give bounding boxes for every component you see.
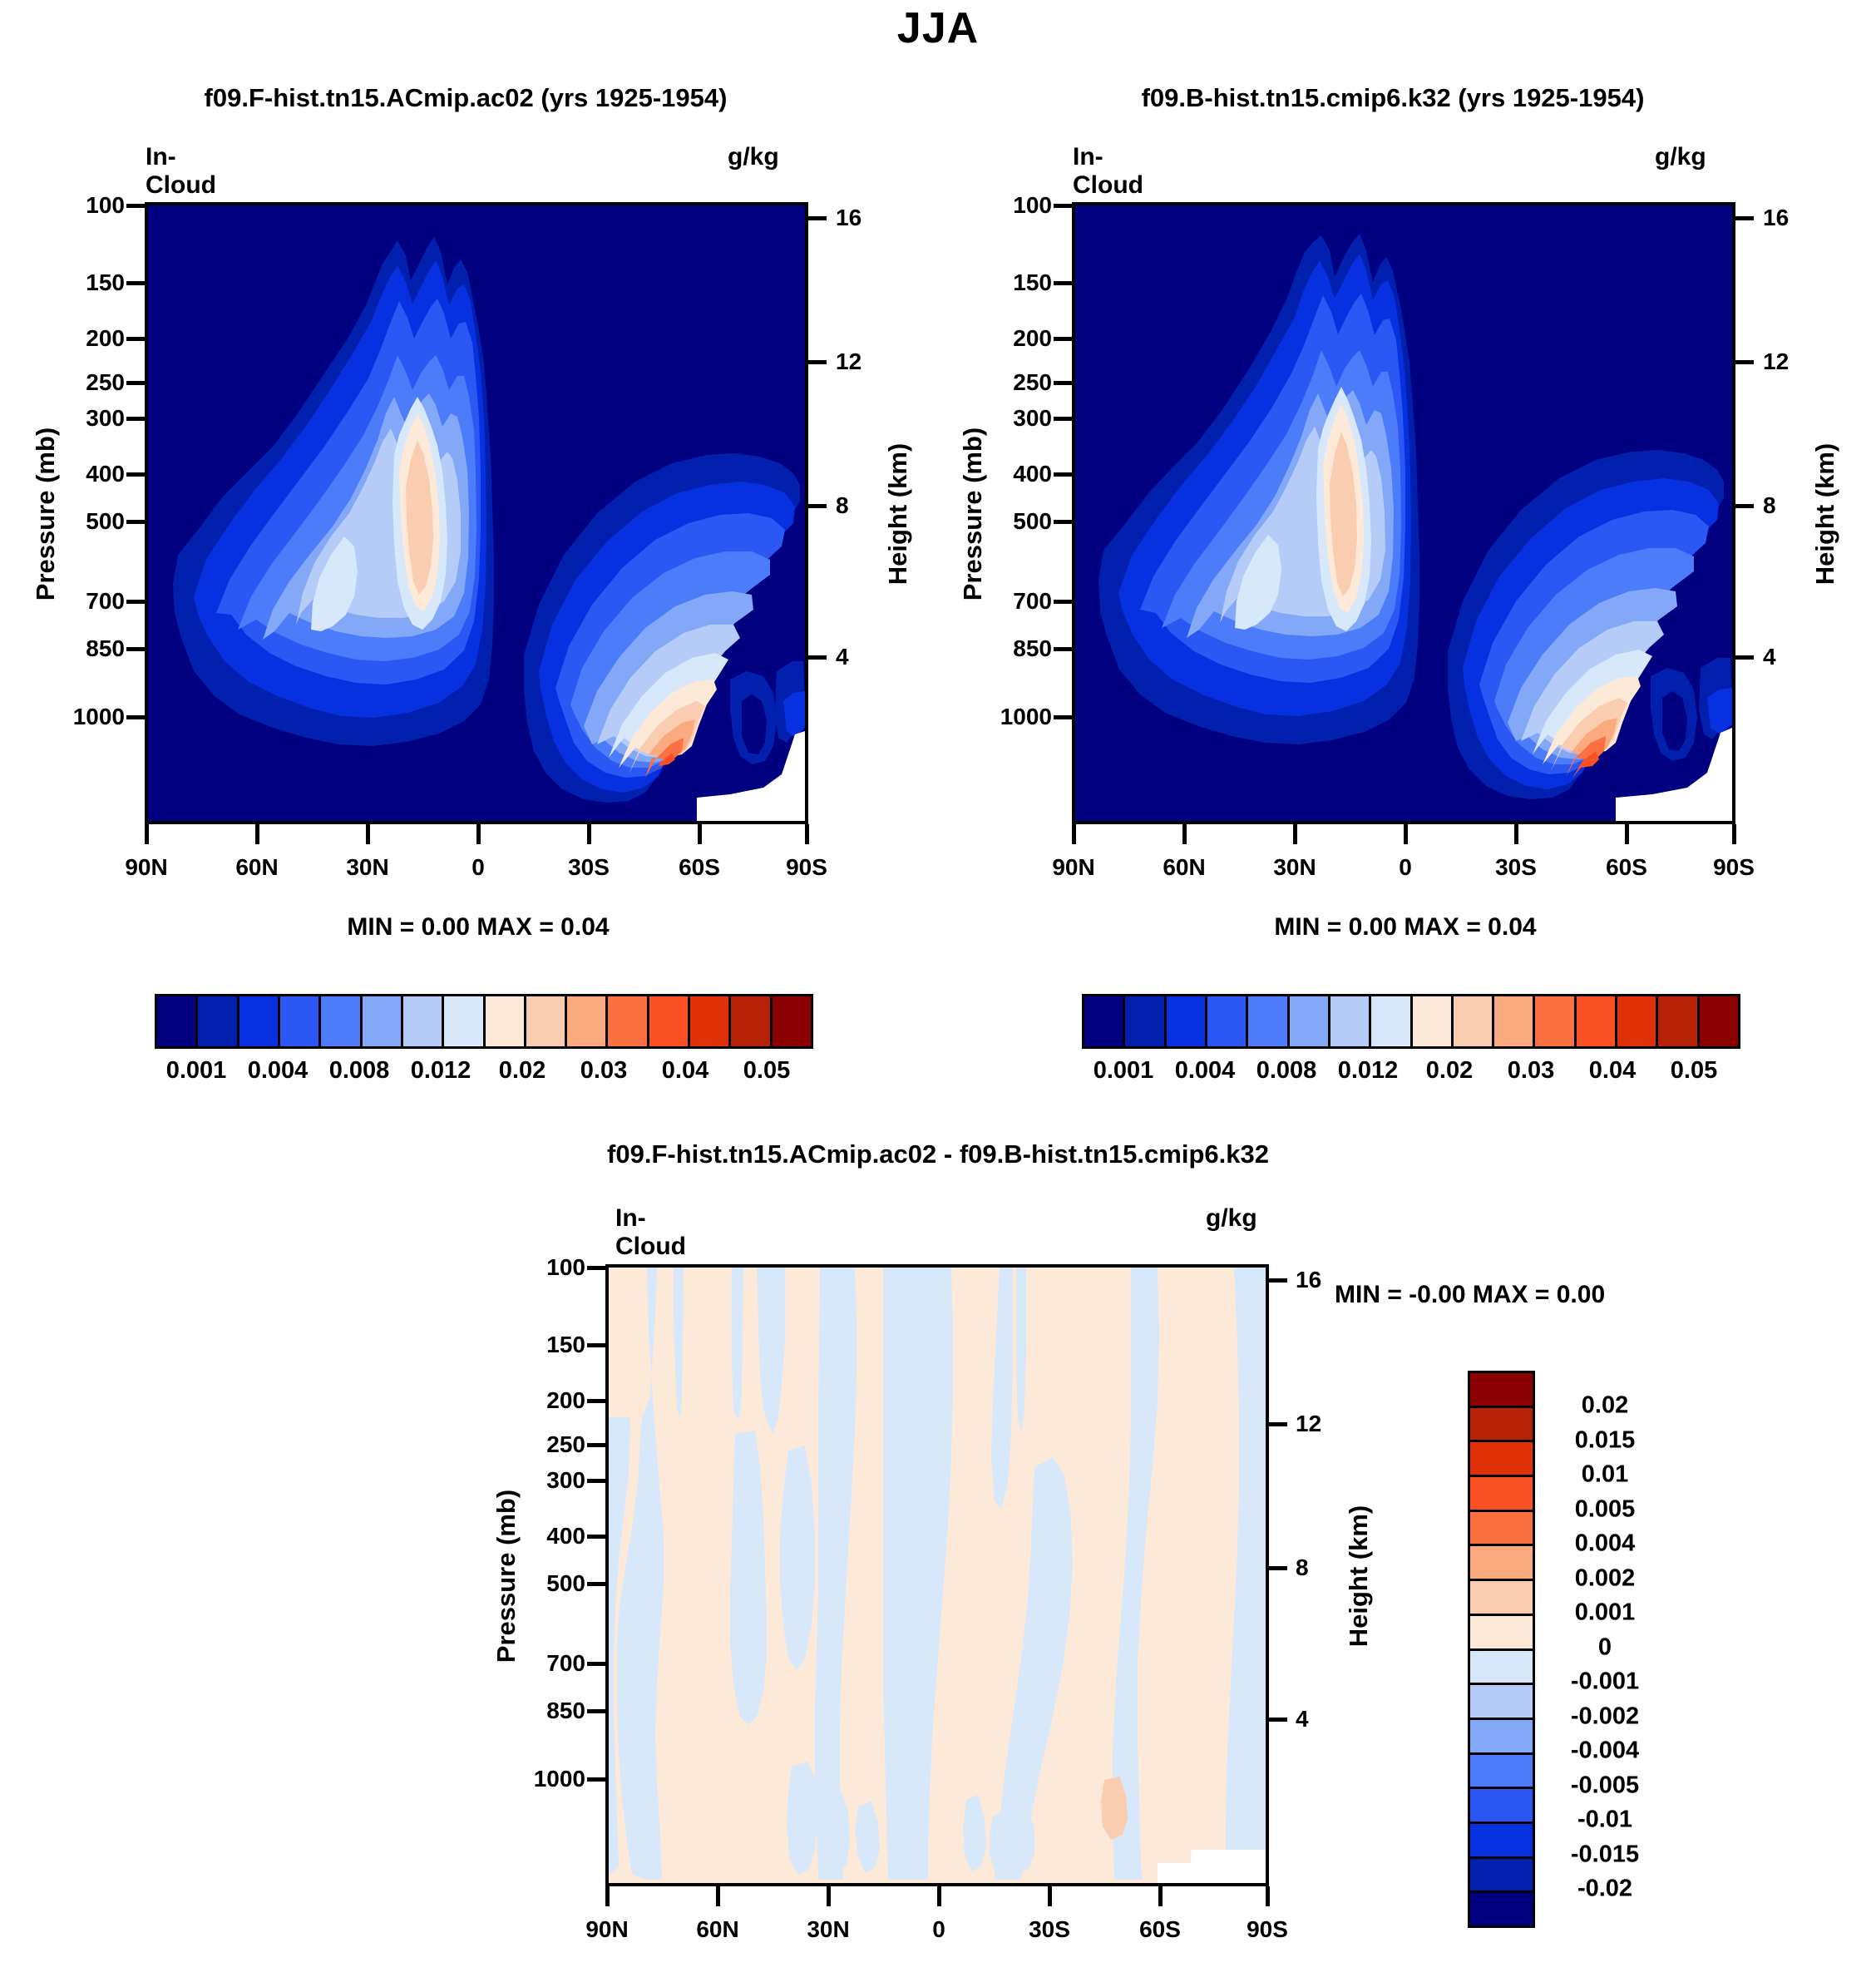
yrtick-label-p1-8: 8: [836, 492, 849, 519]
ytick-mark: [587, 1266, 605, 1270]
colorbar-cell-4: [1248, 996, 1289, 1046]
xtick-label-p2-30S: 30S: [1495, 854, 1537, 881]
colorbar-cell-2: [1167, 996, 1207, 1046]
ytick-label-p1-150: 150: [33, 269, 125, 296]
yrtick-mark: [1735, 360, 1754, 364]
cbar2-label-0: 0.001: [1094, 1057, 1154, 1085]
xtick-mark: [805, 824, 809, 844]
ytick-mark: [1054, 417, 1072, 421]
xtick-mark: [1625, 824, 1629, 844]
ytick-mark: [1054, 600, 1072, 604]
colorbar-cell-13: [690, 996, 731, 1046]
xtick-label-p3-0: 0: [932, 1916, 945, 1943]
ytick-label-p3-150: 150: [494, 1332, 585, 1358]
xtick-mark: [1732, 824, 1736, 844]
yrtick-mark: [1269, 1278, 1287, 1283]
ytick-label-p1-100: 100: [33, 192, 125, 219]
cbar1-label-7: 0.05: [743, 1057, 790, 1085]
xtick-label-p2-90N: 90N: [1052, 854, 1094, 881]
yrtick-mark: [1269, 1566, 1287, 1570]
colorbar-diff-cell-9: [1470, 1685, 1533, 1720]
xtick-mark: [716, 1886, 720, 1906]
ytick-label-p2-200: 200: [960, 325, 1052, 352]
colorbar-top-right[interactable]: [1082, 994, 1740, 1049]
yrtick-mark: [808, 504, 827, 508]
colorbar-diff-cell-15: [1470, 1893, 1533, 1925]
colorbar-cell-6: [1330, 996, 1371, 1046]
ytick-label-p3-1000: 1000: [477, 1766, 585, 1792]
pressure-axis-title-bottom: Pressure (mb): [491, 1468, 521, 1684]
xtick-mark: [255, 824, 259, 844]
panel-top-left-units-label: g/kg: [728, 143, 779, 171]
yrtick-label-p1-4: 4: [836, 644, 849, 670]
xtick-mark: [698, 824, 702, 844]
cbar2-label-4: 0.02: [1426, 1057, 1473, 1085]
colorbar-diff-cell-14: [1470, 1859, 1533, 1894]
xtick-label-p2-0: 0: [1399, 854, 1412, 881]
cbar1-label-4: 0.02: [499, 1057, 546, 1085]
ytick-label-p2-100: 100: [960, 192, 1052, 219]
colorbar-top-left[interactable]: [155, 994, 813, 1049]
xtick-label-p2-90S: 90S: [1713, 854, 1755, 881]
cbar3-label-2: 0.01: [1582, 1461, 1628, 1489]
colorbar-cell-13: [1617, 996, 1658, 1046]
colorbar-cell-8: [486, 996, 526, 1046]
panel-top-right-minmax: MIN = 0.00 MAX = 0.04: [927, 913, 1876, 942]
xtick-label-p1-60N: 60N: [235, 854, 278, 881]
ytick-mark: [587, 1443, 605, 1447]
xtick-mark: [1072, 824, 1076, 844]
ytick-label-p3-100: 100: [494, 1254, 585, 1281]
yrtick-label-p3-8: 8: [1296, 1554, 1309, 1581]
xtick-mark: [1158, 1886, 1163, 1906]
ytick-mark: [126, 204, 145, 208]
cbar3-label-7: 0: [1598, 1634, 1612, 1662]
ytick-mark: [126, 600, 145, 604]
xtick-label-p1-60S: 60S: [679, 854, 720, 881]
panel-bottom-minmax: MIN = -0.00 MAX = 0.00: [1335, 1281, 1605, 1309]
colorbar-cell-6: [403, 996, 444, 1046]
colorbar-diff-cell-7: [1470, 1616, 1533, 1651]
xtick-label-p1-0: 0: [471, 854, 485, 881]
colorbar-cell-3: [280, 996, 321, 1046]
xtick-mark: [605, 1886, 610, 1906]
cbar3-label-1: 0.015: [1575, 1427, 1636, 1455]
colorbar-cell-15: [1700, 996, 1738, 1046]
ytick-label-p2-150: 150: [960, 269, 1052, 296]
pressure-axis-title-left: Pressure (mb): [31, 406, 61, 622]
xtick-mark: [1048, 1886, 1052, 1906]
cbar3-label-6: 0.001: [1575, 1599, 1636, 1627]
xtick-label-p2-30N: 30N: [1273, 854, 1316, 881]
xtick-label-p3-30N: 30N: [807, 1916, 849, 1943]
ytick-label-p2-850: 850: [960, 635, 1052, 662]
page-title: JJA: [0, 3, 1876, 53]
colorbar-cell-4: [321, 996, 362, 1046]
xtick-mark: [937, 1886, 941, 1906]
ytick-mark: [1054, 715, 1072, 719]
ytick-label-p3-200: 200: [494, 1387, 585, 1414]
xtick-label-p3-90N: 90N: [585, 1916, 628, 1943]
yrtick-mark: [808, 655, 827, 660]
ytick-mark: [126, 520, 145, 524]
colorbar-cell-2: [239, 996, 280, 1046]
cbar3-label-12: -0.01: [1577, 1807, 1632, 1834]
cbar1-label-0: 0.001: [166, 1057, 227, 1085]
cbar2-label-2: 0.008: [1256, 1057, 1317, 1085]
xtick-label-p2-60N: 60N: [1163, 854, 1205, 881]
yrtick-label-p2-4: 4: [1763, 644, 1776, 670]
contour-field-top-left: [148, 205, 805, 821]
colorbar-cell-12: [1577, 996, 1617, 1046]
cbar3-label-9: -0.002: [1571, 1703, 1639, 1731]
ytick-mark: [1054, 472, 1072, 477]
cbar1-label-5: 0.03: [580, 1057, 627, 1085]
xtick-mark: [1514, 824, 1518, 844]
height-axis-title-left-panel: Height (km): [883, 406, 913, 622]
xtick-mark: [827, 1886, 831, 1906]
colorbar-diff-cell-6: [1470, 1581, 1533, 1616]
ytick-mark: [1054, 204, 1072, 208]
yrtick-label-p2-12: 12: [1763, 348, 1789, 375]
xtick-label-p1-90N: 90N: [125, 854, 167, 881]
contour-field-difference: [609, 1268, 1266, 1883]
ytick-label-p1-850: 850: [33, 635, 125, 662]
cbar3-label-3: 0.005: [1575, 1496, 1636, 1524]
yrtick-label-p3-4: 4: [1296, 1706, 1309, 1732]
ytick-mark: [126, 472, 145, 477]
xtick-label-p3-60S: 60S: [1139, 1916, 1181, 1943]
yrtick-mark: [1735, 216, 1754, 220]
ytick-label-p1-200: 200: [33, 325, 125, 352]
yrtick-mark: [1269, 1718, 1287, 1722]
xtick-label-p1-90S: 90S: [786, 854, 827, 881]
colorbar-cell-8: [1413, 996, 1454, 1046]
colorbar-diff-cell-11: [1470, 1755, 1533, 1790]
ytick-label-p2-1000: 1000: [944, 704, 1052, 730]
cbar2-label-6: 0.04: [1589, 1057, 1636, 1085]
colorbar-cell-0: [157, 996, 198, 1046]
xtick-mark: [145, 824, 149, 844]
yrtick-mark: [808, 216, 827, 220]
yrtick-mark: [1735, 504, 1754, 508]
cbar3-label-4: 0.004: [1575, 1530, 1636, 1558]
colorbar-cell-0: [1084, 996, 1125, 1046]
xtick-mark: [476, 824, 481, 844]
ytick-mark: [1054, 381, 1072, 385]
xtick-label-p1-30N: 30N: [346, 854, 388, 881]
yrtick-mark: [1735, 655, 1754, 660]
colorbar-cell-7: [444, 996, 485, 1046]
contour-field-top-right: [1075, 205, 1732, 821]
ytick-label-p2-250: 250: [960, 369, 1052, 396]
colorbar-cell-11: [1535, 996, 1576, 1046]
ytick-mark: [126, 337, 145, 341]
ytick-mark: [126, 381, 145, 385]
ytick-label-p1-1000: 1000: [17, 704, 125, 730]
xtick-label-p3-60N: 60N: [696, 1916, 738, 1943]
xtick-mark: [1182, 824, 1187, 844]
panel-bottom-units-label: g/kg: [1206, 1204, 1257, 1233]
panel-top-right-units-label: g/kg: [1655, 143, 1706, 171]
cbar3-label-14: -0.02: [1577, 1876, 1632, 1903]
panel-top-left-minmax: MIN = 0.00 MAX = 0.04: [0, 913, 956, 942]
colorbar-cell-14: [731, 996, 772, 1046]
ytick-mark: [1054, 647, 1072, 651]
cbar1-label-1: 0.004: [248, 1057, 309, 1085]
cbar3-label-0: 0.02: [1582, 1392, 1628, 1420]
ytick-mark: [126, 647, 145, 651]
ytick-mark: [587, 1535, 605, 1539]
yrtick-label-p1-12: 12: [836, 348, 861, 375]
ytick-mark: [587, 1479, 605, 1483]
yrtick-mark: [1269, 1422, 1287, 1426]
ytick-mark: [587, 1777, 605, 1782]
height-axis-title-bottom-panel: Height (km): [1344, 1468, 1374, 1684]
ytick-label-p3-250: 250: [494, 1431, 585, 1458]
panel-top-left-plot-area: [145, 202, 808, 824]
cbar1-label-3: 0.012: [411, 1057, 471, 1085]
panel-bottom-title: f09.F-hist.tn15.ACmip.ac02 - f09.B-hist.…: [439, 1139, 1437, 1169]
colorbar-cell-1: [1125, 996, 1166, 1046]
xtick-mark: [1404, 824, 1408, 844]
ytick-mark: [1054, 337, 1072, 341]
panel-top-right-title: f09.B-hist.tn15.cmip6.k32 (yrs 1925-1954…: [944, 83, 1842, 113]
xtick-label-p3-90S: 90S: [1247, 1916, 1288, 1943]
xtick-label-p2-60S: 60S: [1606, 854, 1647, 881]
yrtick-label-p3-12: 12: [1296, 1411, 1321, 1437]
ytick-label-p3-850: 850: [494, 1698, 585, 1724]
cbar2-label-7: 0.05: [1671, 1057, 1717, 1085]
panel-bottom-plot-area: [605, 1264, 1269, 1886]
cbar3-label-8: -0.001: [1571, 1668, 1639, 1696]
xtick-mark: [1293, 824, 1297, 844]
colorbar-diff-cell-13: [1470, 1824, 1533, 1859]
ytick-mark: [1054, 281, 1072, 285]
colorbar-diff-cell-1: [1470, 1408, 1533, 1443]
panel-top-right-plot-area: [1072, 202, 1735, 824]
height-axis-title-right-panel: Height (km): [1810, 406, 1840, 622]
ytick-mark: [1054, 520, 1072, 524]
xtick-label-p3-30S: 30S: [1029, 1916, 1070, 1943]
ytick-mark: [587, 1662, 605, 1666]
cbar3-label-10: -0.004: [1571, 1737, 1639, 1765]
colorbar-diff-cell-12: [1470, 1789, 1533, 1824]
colorbar-cell-7: [1371, 996, 1412, 1046]
colorbar-cell-5: [363, 996, 403, 1046]
colorbar-cell-1: [198, 996, 239, 1046]
xtick-mark: [587, 824, 591, 844]
colorbar-diff-cell-8: [1470, 1651, 1533, 1686]
colorbar-diff-cell-0: [1470, 1373, 1533, 1408]
colorbar-cell-5: [1290, 996, 1330, 1046]
xtick-label-p1-30S: 30S: [568, 854, 610, 881]
xtick-mark: [1266, 1886, 1270, 1906]
yrtick-mark: [808, 360, 827, 364]
colorbar-cell-10: [567, 996, 608, 1046]
colorbar-diff-cell-2: [1470, 1442, 1533, 1477]
panel-top-left-title: f09.F-hist.tn15.ACmip.ac02 (yrs 1925-195…: [17, 83, 915, 113]
colorbar-cell-10: [1494, 996, 1535, 1046]
colorbar-diff-cell-4: [1470, 1512, 1533, 1547]
yrtick-label-p3-16: 16: [1296, 1267, 1321, 1293]
colorbar-cell-12: [649, 996, 690, 1046]
ytick-mark: [126, 281, 145, 285]
colorbar-diff-cell-3: [1470, 1477, 1533, 1512]
colorbar-diff-cell-10: [1470, 1720, 1533, 1755]
ytick-mark: [126, 715, 145, 719]
yrtick-label-p2-16: 16: [1763, 205, 1789, 231]
ytick-mark: [587, 1343, 605, 1347]
cbar1-label-2: 0.008: [329, 1057, 390, 1085]
cbar3-label-13: -0.015: [1571, 1841, 1639, 1869]
cbar3-label-5: 0.002: [1575, 1565, 1636, 1593]
ytick-mark: [587, 1399, 605, 1403]
ytick-mark: [126, 417, 145, 421]
colorbar-difference[interactable]: [1468, 1371, 1535, 1928]
cbar2-label-1: 0.004: [1175, 1057, 1236, 1085]
colorbar-cell-11: [608, 996, 649, 1046]
yrtick-label-p2-8: 8: [1763, 492, 1776, 519]
cbar2-label-3: 0.012: [1338, 1057, 1399, 1085]
cbar2-label-5: 0.03: [1508, 1057, 1554, 1085]
pressure-axis-title-right: Pressure (mb): [958, 406, 988, 622]
colorbar-cell-3: [1207, 996, 1248, 1046]
colorbar-cell-14: [1658, 996, 1699, 1046]
colorbar-diff-cell-5: [1470, 1546, 1533, 1581]
colorbar-cell-15: [773, 996, 811, 1046]
colorbar-cell-9: [1454, 996, 1494, 1046]
cbar1-label-6: 0.04: [662, 1057, 708, 1085]
ytick-mark: [587, 1709, 605, 1713]
colorbar-cell-9: [526, 996, 567, 1046]
ytick-mark: [587, 1582, 605, 1586]
cbar3-label-11: -0.005: [1571, 1772, 1639, 1800]
yrtick-label-p1-16: 16: [836, 205, 861, 231]
ytick-label-p1-250: 250: [33, 369, 125, 396]
xtick-mark: [366, 824, 370, 844]
